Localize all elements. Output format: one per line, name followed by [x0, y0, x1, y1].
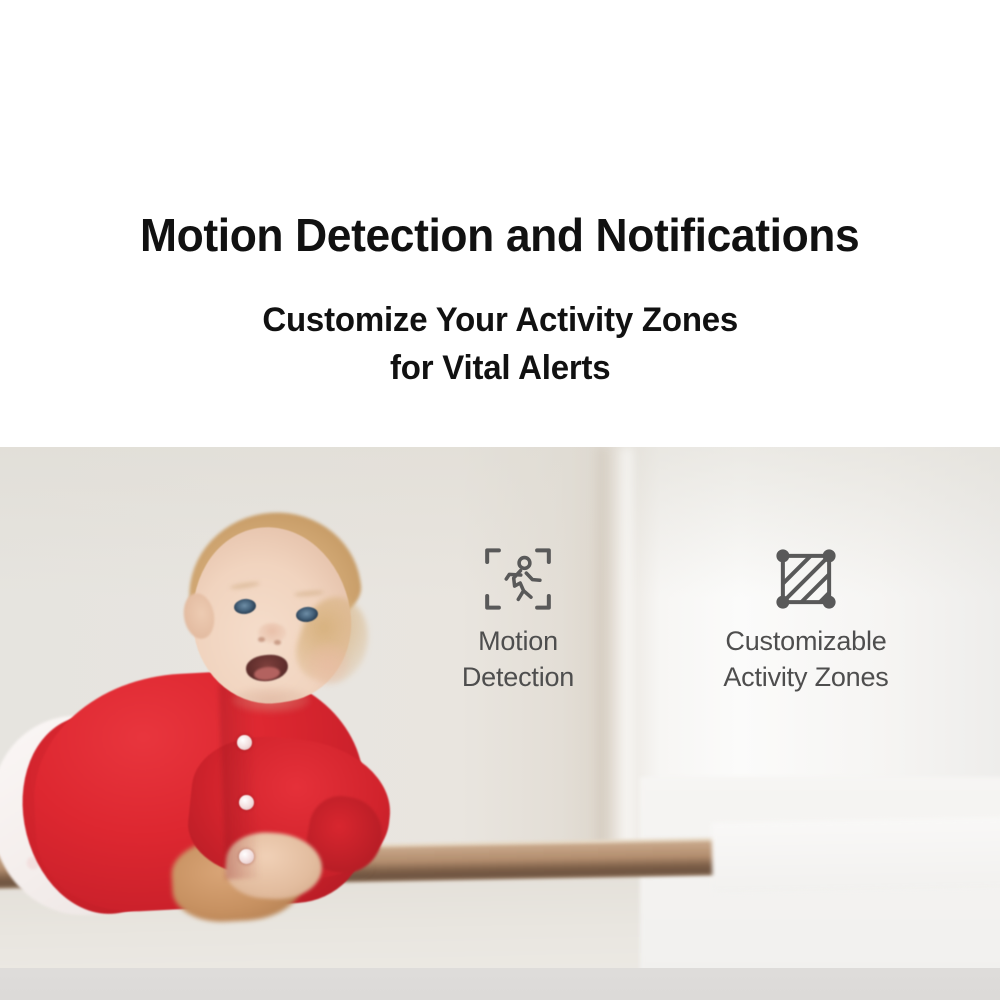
page-title: Motion Detection and Notifications — [140, 212, 859, 258]
promo-banner: Motion Detection and Notifications Custo… — [0, 0, 1000, 1000]
page-subtitle-line-2: for Vital Alerts — [262, 344, 738, 392]
feature-caption: Customizable Activity Zones — [723, 624, 888, 695]
page-subtitle-line-1: Customize Your Activity Zones — [262, 296, 738, 344]
feature-caption-line-1: Motion — [462, 624, 574, 660]
baby-cheek — [306, 643, 350, 685]
baby-subject — [0, 447, 1000, 1000]
feature-motion-detection: Motion Detection — [430, 542, 606, 695]
feature-caption-line-2: Detection — [462, 660, 574, 696]
feature-activity-zones: Customizable Activity Zones — [718, 542, 894, 695]
baby-nostril — [274, 640, 281, 645]
hatched-zone-with-handles-icon — [769, 542, 843, 616]
feature-caption: Motion Detection — [462, 624, 574, 695]
running-person-in-frame-icon — [481, 542, 555, 616]
feature-list: Motion Detection — [430, 542, 950, 695]
cardigan-placket — [219, 682, 260, 879]
baby-chin-shading — [232, 687, 310, 713]
cardigan-button — [237, 735, 252, 750]
baby-nostril — [258, 637, 265, 642]
header-band: Motion Detection and Notifications Custo… — [0, 0, 1000, 447]
hero-photo: Motion Detection — [0, 447, 1000, 1000]
cardigan-button — [239, 795, 254, 810]
feature-caption-line-1: Customizable — [723, 624, 888, 660]
feature-caption-line-2: Activity Zones — [723, 660, 888, 696]
cardigan-button — [239, 849, 254, 864]
page-subtitle: Customize Your Activity Zones for Vital … — [262, 296, 738, 393]
